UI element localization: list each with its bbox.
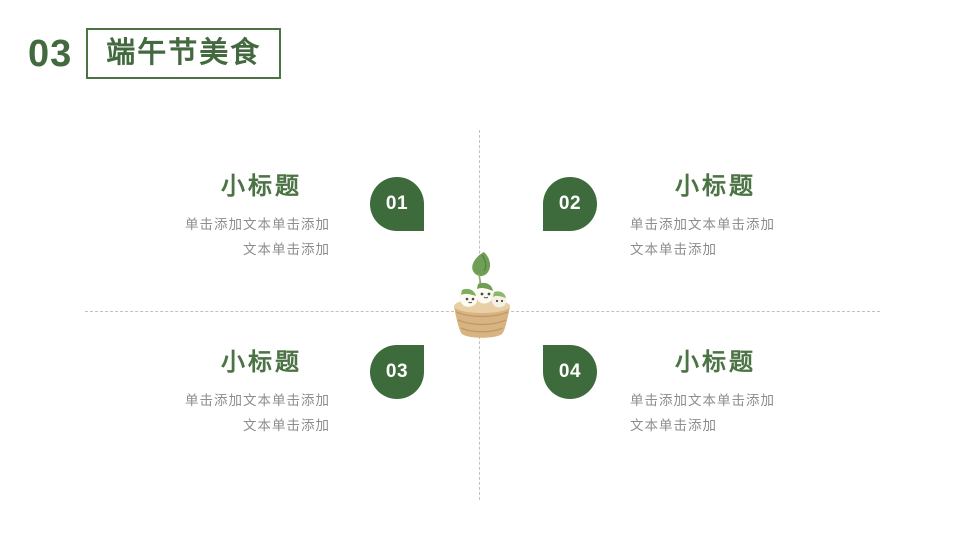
block-heading: 小标题 bbox=[630, 166, 960, 201]
block-heading: 小标题 bbox=[0, 342, 330, 377]
content-block-bottom-left: 小标题 单击添加文本单击添加 文本单击添加 bbox=[0, 342, 330, 439]
block-body-line-2: 文本单击添加 bbox=[0, 414, 330, 439]
step-badge-01[interactable]: 01 bbox=[370, 177, 424, 231]
slide-header: 03 端午节美食 bbox=[28, 28, 281, 79]
block-body-line-2: 文本单击添加 bbox=[630, 238, 960, 263]
block-body-line-1: 单击添加文本单击添加 bbox=[0, 389, 330, 414]
block-body-line-2: 文本单击添加 bbox=[0, 238, 330, 263]
block-body: 单击添加文本单击添加 文本单击添加 bbox=[630, 389, 960, 439]
content-block-top-left: 小标题 单击添加文本单击添加 文本单击添加 bbox=[0, 166, 330, 263]
content-block-bottom-right: 小标题 单击添加文本单击添加 文本单击添加 bbox=[630, 342, 960, 439]
block-heading: 小标题 bbox=[0, 166, 330, 201]
content-block-top-right: 小标题 单击添加文本单击添加 文本单击添加 bbox=[630, 166, 960, 263]
block-body-line-1: 单击添加文本单击添加 bbox=[630, 213, 960, 238]
section-title-box: 端午节美食 bbox=[86, 28, 281, 79]
section-title: 端午节美食 bbox=[106, 38, 261, 67]
block-body: 单击添加文本单击添加 文本单击添加 bbox=[0, 389, 330, 439]
section-number: 03 bbox=[28, 35, 86, 73]
block-body-line-1: 单击添加文本单击添加 bbox=[0, 213, 330, 238]
step-badge-04[interactable]: 04 bbox=[543, 345, 597, 399]
zongzi-basket-illustration bbox=[432, 246, 532, 346]
block-body: 单击添加文本单击添加 文本单击添加 bbox=[630, 213, 960, 263]
step-badge-02[interactable]: 02 bbox=[543, 177, 597, 231]
block-heading: 小标题 bbox=[630, 342, 960, 377]
step-badge-03[interactable]: 03 bbox=[370, 345, 424, 399]
block-body-line-2: 文本单击添加 bbox=[630, 414, 960, 439]
block-body: 单击添加文本单击添加 文本单击添加 bbox=[0, 213, 330, 263]
block-body-line-1: 单击添加文本单击添加 bbox=[630, 389, 960, 414]
